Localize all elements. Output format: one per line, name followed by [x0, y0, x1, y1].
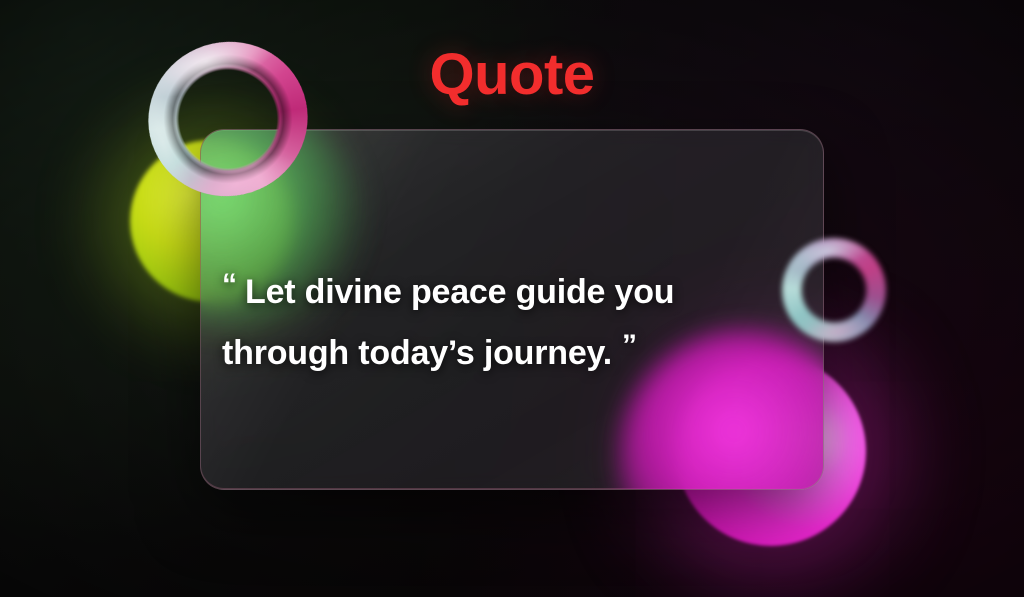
- quote-open-mark: “: [222, 268, 237, 301]
- page-title: Quote: [0, 41, 1024, 108]
- quote-text-block: “Let divine peace guide you through toda…: [222, 258, 782, 380]
- quote-close-mark: ”: [622, 329, 637, 362]
- quote-line-2-text: through today’s journey.: [222, 334, 612, 372]
- quote-line-2: through today’s journey.”: [222, 319, 782, 380]
- quote-line-1-text: Let divine peace guide you: [245, 273, 674, 311]
- quote-card-canvas: “Let divine peace guide you through toda…: [0, 0, 1024, 597]
- quote-line-1: “Let divine peace guide you: [222, 258, 782, 319]
